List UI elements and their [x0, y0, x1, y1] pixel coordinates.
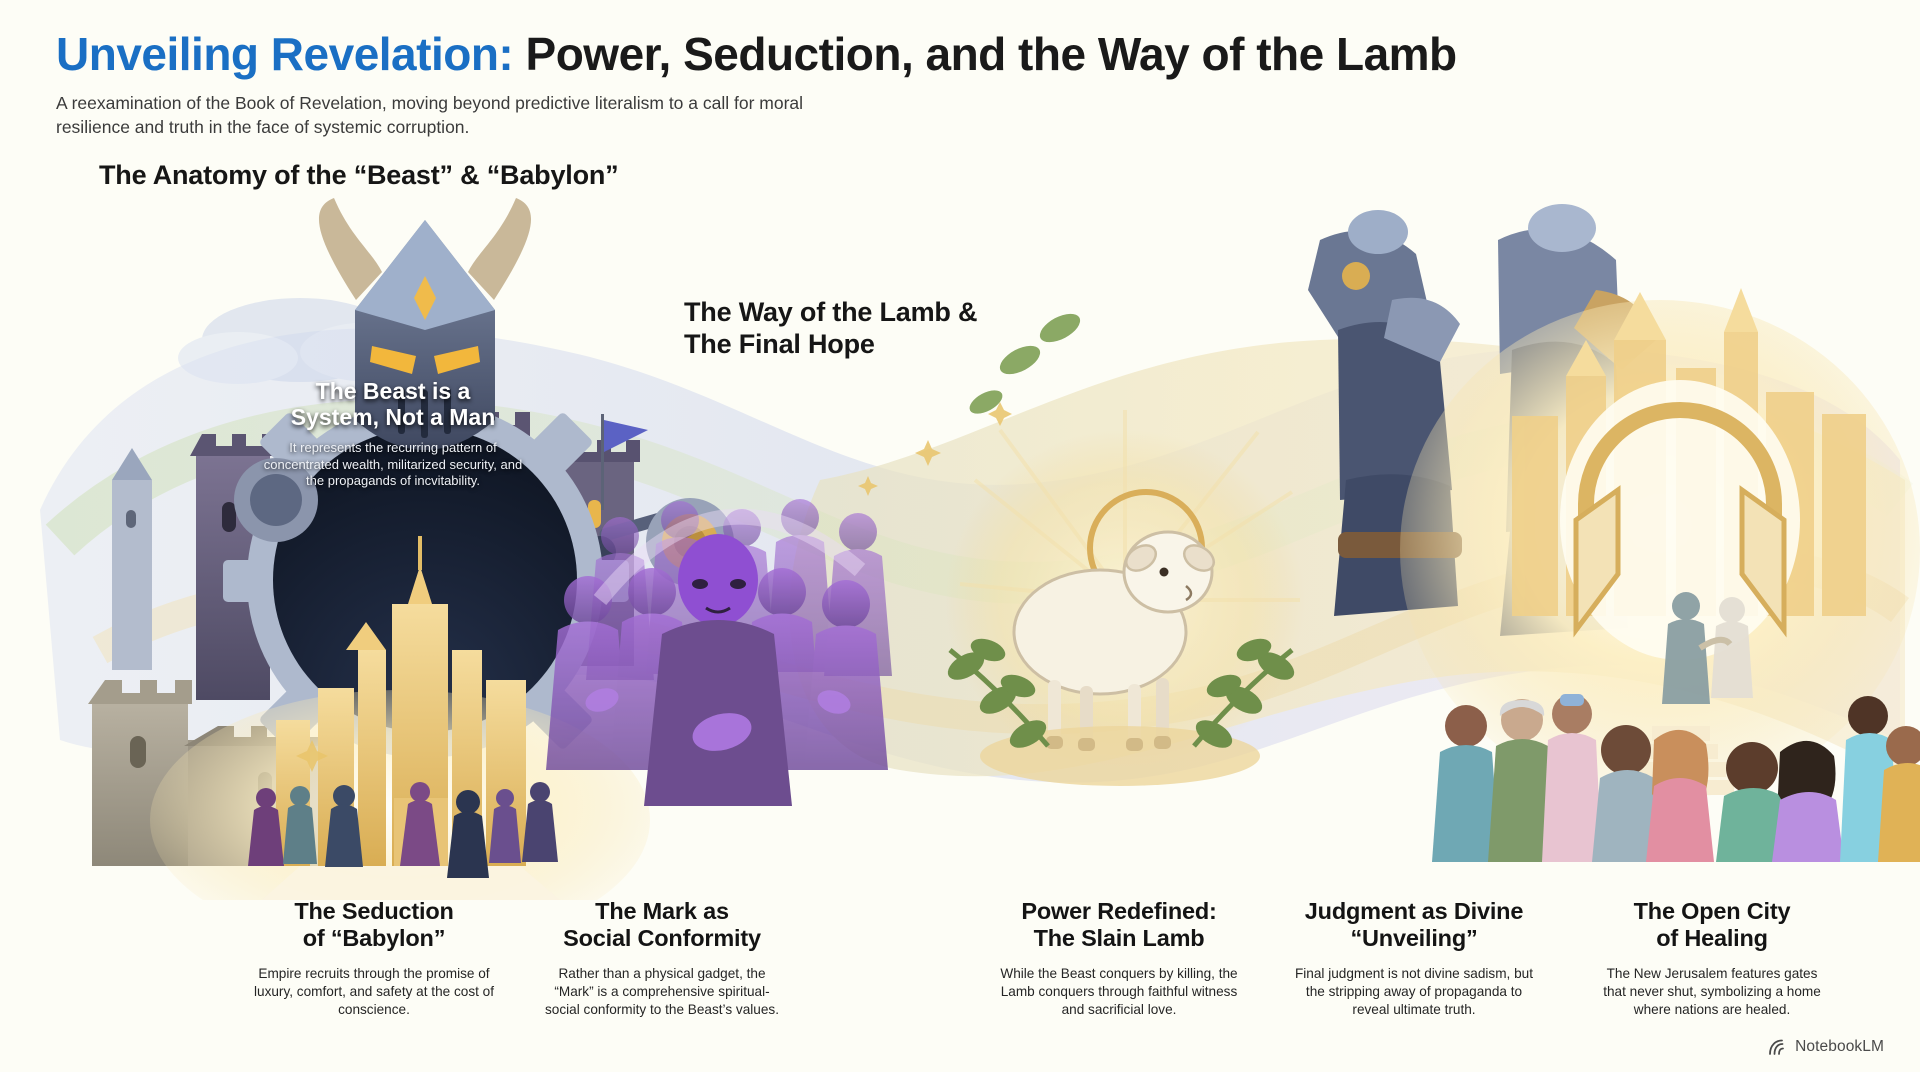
header: Unveiling Revelation: Power, Seduction, … — [56, 30, 1896, 139]
illustration-canvas — [0, 180, 1920, 900]
castle-spire — [112, 448, 152, 670]
crowd-couple-2 — [1716, 741, 1844, 862]
notebooklm-watermark: NotebookLM — [1768, 1038, 1884, 1056]
caption-card-seduction: The Seduction of “Babylon” Empire recrui… — [240, 898, 508, 1019]
caption-row: The Seduction of “Babylon” Empire recrui… — [0, 898, 1920, 1019]
caption-title: The Open City of Healing — [1594, 898, 1830, 953]
infographic-page: Unveiling Revelation: Power, Seduction, … — [0, 0, 1920, 1072]
side-gear-small — [234, 458, 318, 542]
page-title-accent: Unveiling Revelation: — [56, 28, 513, 80]
caption-title: Judgment as Divine “Unveiling” — [1286, 898, 1542, 953]
caption-body: The New Jerusalem features gates that ne… — [1594, 965, 1830, 1019]
caption-card-power: Power Redefined: The Slain Lamb While th… — [980, 898, 1258, 1019]
caption-body: Final judgment is not divine sadism, but… — [1286, 965, 1542, 1019]
caption-card-mark: The Mark as Social Conformity Rather tha… — [526, 898, 798, 1019]
page-title-rest: Power, Seduction, and the Way of the Lam… — [513, 28, 1456, 80]
caption-title: Power Redefined: The Slain Lamb — [994, 898, 1244, 953]
horn-right — [468, 198, 531, 300]
notebooklm-label: NotebookLM — [1795, 1038, 1884, 1056]
page-subtitle: A reexamination of the Book of Revelatio… — [56, 91, 856, 139]
caption-title: The Seduction of “Babylon” — [254, 898, 494, 953]
page-title: Unveiling Revelation: Power, Seduction, … — [56, 30, 1896, 80]
caption-card-open-city: The Open City of Healing The New Jerusal… — [1580, 898, 1844, 1019]
notebooklm-logo-icon — [1768, 1039, 1788, 1056]
caption-title: The Mark as Social Conformity — [540, 898, 784, 953]
caption-body: Rather than a physical gadget, the “Mark… — [540, 965, 784, 1019]
caption-body: While the Beast conquers by killing, the… — [994, 965, 1244, 1019]
caption-body: Empire recruits through the promise of l… — [254, 965, 494, 1019]
horn-left — [319, 198, 382, 300]
caption-card-judgment: Judgment as Divine “Unveiling” Final jud… — [1272, 898, 1556, 1019]
